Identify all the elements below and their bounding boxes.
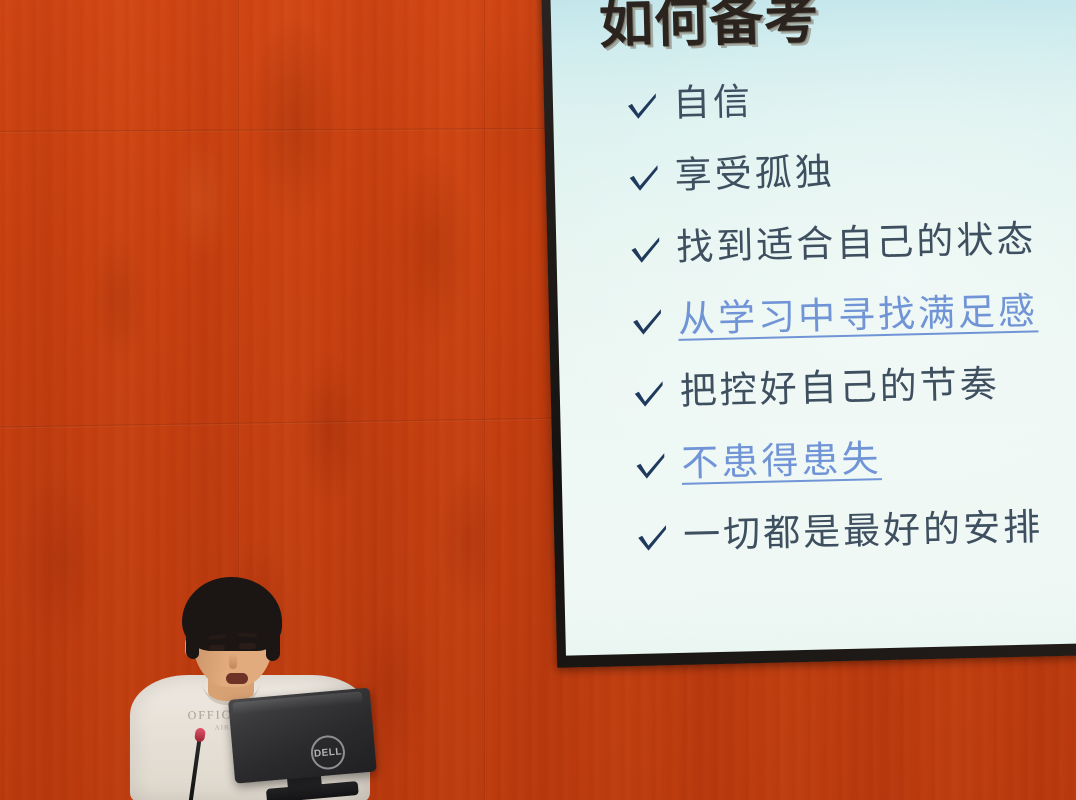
nose	[229, 653, 237, 669]
list-item: 从学习中寻找满足感	[629, 273, 1076, 356]
list-item: 享受孤独	[626, 129, 1076, 212]
computer-monitor: DELL	[228, 687, 384, 800]
check-icon	[626, 163, 661, 194]
eye-left	[209, 645, 225, 651]
list-item: 自信	[624, 57, 1076, 140]
sideburn-right	[266, 621, 280, 661]
check-icon	[628, 235, 663, 266]
mouth	[226, 673, 248, 684]
list-item: 找到适合自己的状态	[628, 201, 1076, 284]
bullet-hyperlink[interactable]: 不患得患失	[681, 440, 882, 482]
slide-title: 如何备考	[598, 0, 1076, 53]
screen-surface: 如何备考 自信	[550, 0, 1076, 656]
presentation-photo-scene: 如何备考 自信	[0, 0, 1076, 800]
check-icon	[633, 451, 668, 482]
bullet-label: 把控好自己的节奏	[679, 365, 1000, 410]
bullet-label: 一切都是最好的安排	[683, 509, 1044, 554]
check-icon	[625, 91, 660, 122]
bullet-label: 找到适合自己的状态	[676, 221, 1037, 266]
list-item: 不患得患失	[633, 417, 1076, 500]
dell-logo-icon: DELL	[310, 734, 347, 771]
check-icon	[631, 379, 666, 410]
projection-screen: 如何备考 自信	[541, 0, 1076, 668]
check-icon	[630, 307, 665, 338]
sideburn-left	[186, 623, 199, 659]
bullet-label: 自信	[673, 83, 754, 122]
microphone-tip	[194, 727, 206, 742]
slide-content: 如何备考 自信	[550, 0, 1076, 656]
bullet-hyperlink[interactable]: 从学习中寻找满足感	[678, 293, 1039, 338]
check-icon	[635, 523, 670, 554]
monitor-back-panel: DELL	[228, 688, 377, 784]
eye-right	[239, 643, 256, 649]
bullet-label: 享受孤独	[674, 153, 835, 194]
wall-seam-vertical	[484, 0, 486, 800]
list-item: 一切都是最好的安排	[634, 489, 1076, 572]
slide-bullet-list: 自信 享受孤独	[552, 57, 1076, 574]
list-item: 把控好自己的节奏	[631, 345, 1076, 428]
